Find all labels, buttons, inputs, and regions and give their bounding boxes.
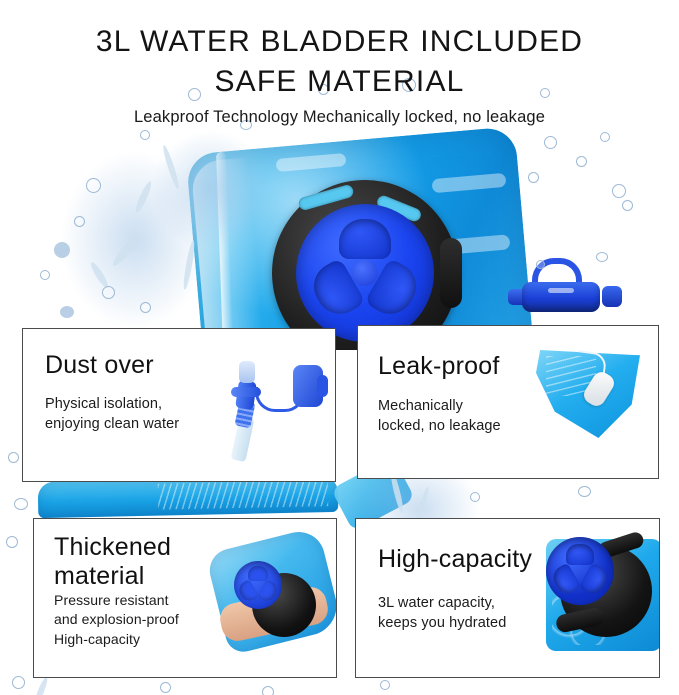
feature-thumbnail-hand-holding-bladder [212, 533, 336, 661]
feature-title: Thickened material [54, 533, 171, 590]
dust-cap-ear [317, 375, 328, 397]
page-title-line1: 3L WATER BLADDER INCLUDED [0, 22, 679, 62]
tri-lobe-cap [296, 204, 434, 342]
water-droplet [6, 536, 18, 548]
feature-card-high-capacity[interactable]: High-capacity 3L water capacity, keeps y… [355, 518, 660, 678]
water-droplet [576, 156, 587, 167]
feature-card-thickened-material[interactable]: Thickened material Pressure resistant an… [33, 518, 337, 678]
cap-lobe [236, 579, 259, 604]
feature-thumbnail-cap-closeup [546, 533, 660, 659]
cap-hub [352, 260, 378, 286]
water-droplet [140, 302, 151, 313]
tri-lobe-cap [234, 561, 282, 609]
water-droplet [578, 486, 591, 497]
valve-tail [602, 286, 622, 307]
page-subtitle: Leakproof Technology Mechanically locked… [0, 108, 679, 127]
water-droplet [544, 136, 557, 149]
water-droplet [140, 130, 150, 140]
bladder-printed-text [158, 480, 329, 510]
feature-thumbnail-bladder-valve [536, 344, 646, 452]
feature-body: Physical isolation, enjoying clean water [45, 394, 179, 434]
valve-body [522, 282, 600, 312]
water-streak [33, 676, 50, 695]
water-droplet [86, 178, 101, 193]
feature-card-dust-over[interactable]: Dust over Physical isolation, enjoying c… [22, 328, 336, 482]
feature-card-leak-proof[interactable]: Leak-proof Mechanically locked, no leaka… [357, 325, 659, 479]
water-droplet [470, 492, 480, 502]
water-splash [150, 130, 270, 250]
cap-lobe [257, 579, 280, 604]
hero-product-image [0, 120, 679, 350]
product-infographic: 3L WATER BLADDER INCLUDED SAFE MATERIAL … [0, 0, 679, 695]
cap-lobe [566, 544, 594, 565]
water-droplet [600, 132, 610, 142]
feature-title: Dust over [45, 351, 154, 380]
page-title-line2: SAFE MATERIAL [0, 62, 679, 102]
feature-thumbnail-bite-valve-dust-cap [213, 357, 331, 457]
water-droplet [14, 498, 28, 510]
valve-tip [239, 361, 255, 383]
valve-collar [231, 387, 261, 397]
water-droplet [54, 242, 70, 258]
cap-lobe [579, 563, 611, 598]
water-droplet [102, 286, 115, 299]
water-droplet [60, 306, 74, 318]
feature-body: 3L water capacity, keeps you hydrated [378, 593, 506, 633]
handle-grip [440, 238, 462, 308]
water-droplet [262, 686, 274, 695]
water-droplet [8, 452, 19, 463]
water-droplet [380, 680, 390, 690]
water-droplet [596, 252, 608, 262]
background-bladder-strip [38, 476, 339, 518]
valve-highlight [548, 288, 574, 293]
water-droplet [612, 184, 626, 198]
feature-title: Leak-proof [378, 352, 500, 381]
header-block: 3L WATER BLADDER INCLUDED SAFE MATERIAL [0, 22, 679, 101]
feature-title: High-capacity [378, 545, 532, 574]
water-droplet [40, 270, 50, 280]
feature-body: Pressure resistant and explosion-proof H… [54, 591, 179, 649]
water-droplet [12, 676, 25, 689]
feature-body: Mechanically locked, no leakage [378, 396, 501, 436]
cap-lobe [549, 563, 581, 598]
cap-lobe [339, 219, 391, 259]
water-droplet [622, 200, 633, 211]
tri-lobe-cap [546, 537, 614, 605]
bite-valve [508, 272, 616, 318]
water-droplet [160, 682, 171, 693]
water-droplet [74, 216, 85, 227]
water-droplet [528, 172, 539, 183]
water-droplet [536, 260, 545, 269]
cap-lobe [248, 566, 268, 581]
